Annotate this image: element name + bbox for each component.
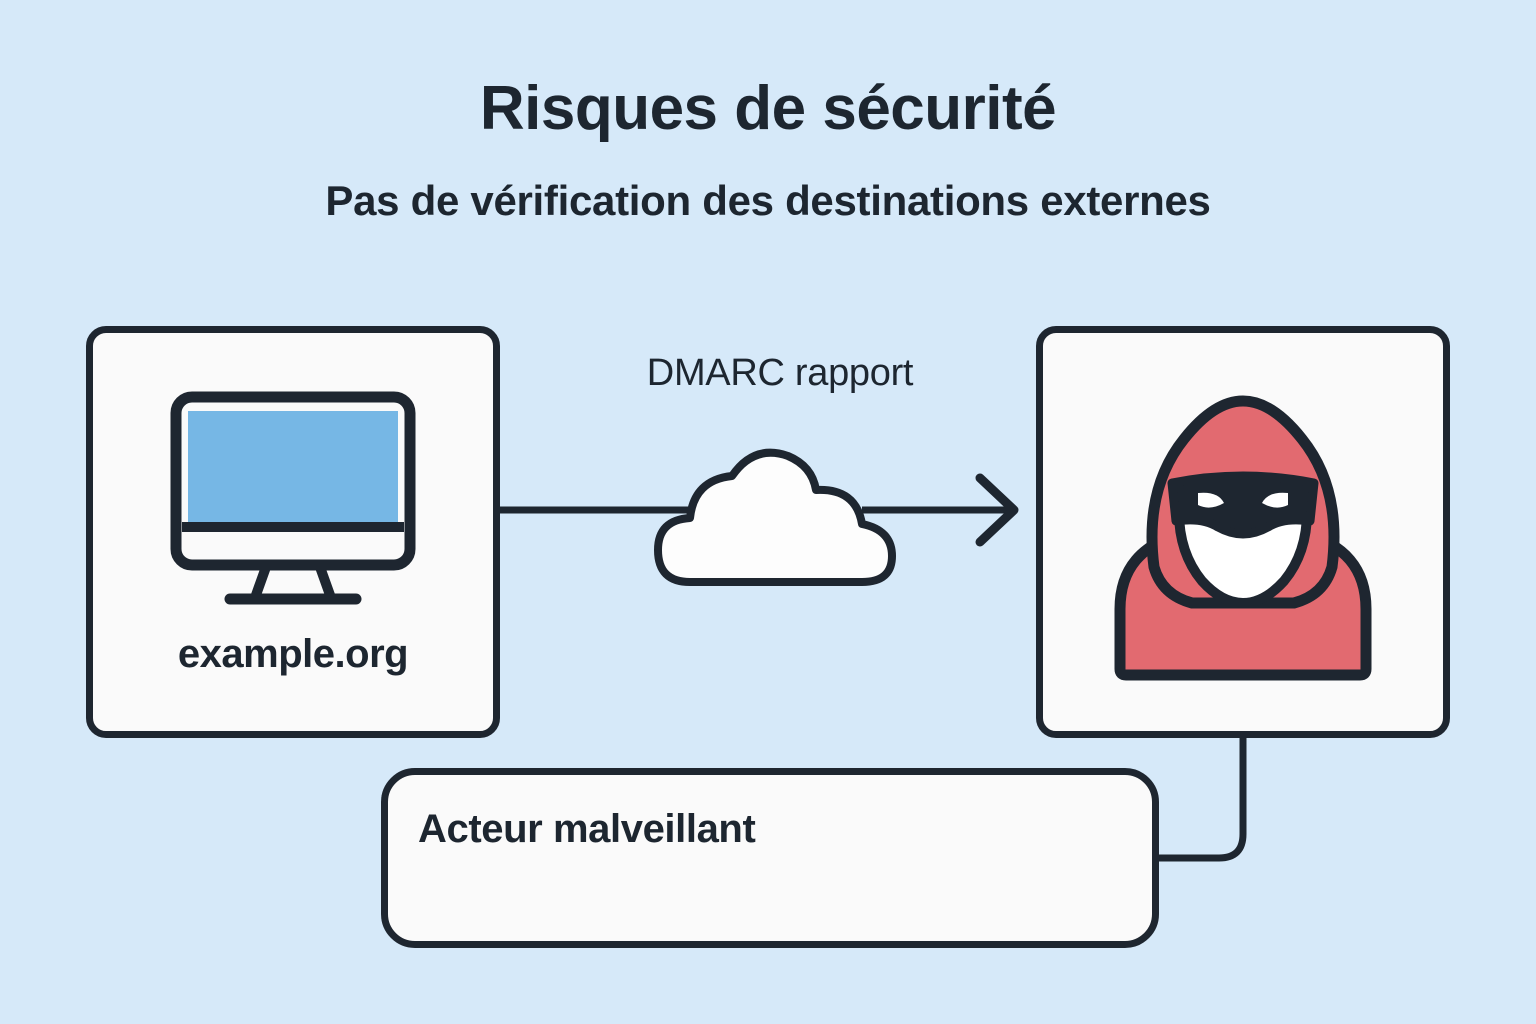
diagram-canvas: Risques de sécurité Pas de vérification … [0, 0, 1536, 1024]
page-subtitle: Pas de vérification des destinations ext… [0, 178, 1536, 224]
source-card[interactable]: example.org [86, 326, 500, 738]
actor-box-label: Acteur malveillant [418, 807, 755, 852]
desktop-monitor-icon [93, 389, 493, 611]
cloud-shape [658, 453, 892, 582]
actor-box[interactable]: Acteur malveillant [381, 768, 1159, 948]
source-card-label: example.org [93, 632, 493, 677]
flow-label: DMARC rapport [560, 352, 1000, 395]
attacker-to-actor-connector [1159, 738, 1243, 858]
monitor-screen [188, 411, 398, 527]
monitor-stand [256, 567, 330, 595]
cloud-icon [650, 434, 900, 599]
arrow-right-icon [980, 478, 1014, 542]
hacker-hooded-figure-icon [1043, 381, 1443, 681]
attacker-card[interactable] [1036, 326, 1450, 738]
page-title: Risques de sécurité [0, 76, 1536, 141]
